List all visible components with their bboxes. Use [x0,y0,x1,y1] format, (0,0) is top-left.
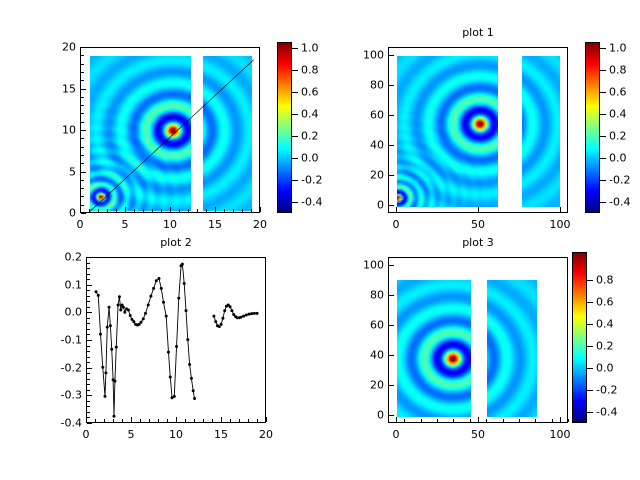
y-axis-minor-tick [87,290,90,291]
x-axis-tick-label: 15 [208,218,222,231]
colorbar-tick-label: 0.6 [609,86,627,99]
y-axis-tick [389,415,394,416]
y-axis-tick-label: 60 [348,319,384,332]
colorbar-tick [587,368,593,369]
y-axis-tick [389,55,394,56]
colorbar-tick-label: 0.8 [596,274,614,287]
plot3-patch-right [487,280,537,417]
y-axis-tick-label: 80 [348,79,384,92]
y-axis-tick-label: 0 [40,207,76,220]
colorbar-tick [600,136,606,137]
y-axis-tick [389,325,394,326]
plot1-colorbar-gradient [586,43,599,212]
y-axis-tick [389,175,394,176]
y-axis-minor-tick [81,113,84,114]
y-axis-tick [87,340,92,341]
y-axis-tick-label: 20 [348,379,384,392]
y-axis-minor-tick [81,205,84,206]
plot1-axes[interactable] [388,47,568,213]
colorbar-tick [600,70,606,71]
plot3-colorbar[interactable] [572,252,587,423]
colorbar-tick [292,48,298,49]
x-axis-tick-label: 100 [550,218,571,231]
y-axis-minor-tick [81,188,84,189]
colorbar-tick [292,92,298,93]
x-axis-minor-tick [388,419,389,422]
colorbar-tick [587,324,593,325]
x-axis-minor-tick [552,419,553,422]
colorbar-tick-label: 0.0 [609,152,627,165]
colorbar-tick-label: 0.8 [301,64,319,77]
x-axis-tick-label: 50 [471,428,485,441]
heatmap-canvas [522,56,560,207]
x-axis-minor-tick [233,209,234,212]
y-axis-tick [81,47,86,48]
y-axis-minor-tick [81,64,84,65]
y-axis-tick [81,130,86,131]
matplotlib-figure: 0510152005101520 1.00.80.60.40.20.0-0.2-… [0,0,640,480]
heatmap-canvas [90,56,191,211]
y-axis-minor-tick [87,318,90,319]
heatmap-canvas [487,280,537,417]
y-axis-minor-tick [81,105,84,106]
x-axis-minor-tick [568,419,569,422]
y-axis-tick-label: -0.4 [46,417,82,430]
colorbar-tick-label: 0.0 [596,362,614,375]
x-axis-tick [396,207,397,212]
y-axis-tick [389,355,394,356]
y-axis-minor-tick [87,373,90,374]
y-axis-tick [87,257,92,258]
colorbar-tick-label: -0.4 [596,406,617,419]
colorbar-tick [292,114,298,115]
x-axis-minor-tick [230,419,231,422]
colorbar-tick [292,202,298,203]
x-axis-minor-tick [134,209,135,212]
plot1-colorbar[interactable] [585,42,600,213]
y-axis-minor-tick [87,263,90,264]
colorbar-tick [600,48,606,49]
x-axis-tick-label: 0 [393,218,400,231]
y-axis-tick [389,205,394,206]
colorbar-tick [292,180,298,181]
colorbar-tick-label: 0.2 [301,130,319,143]
y-axis-tick [87,368,92,369]
y-axis-minor-tick [87,401,90,402]
x-axis-tick-label: 5 [128,428,135,441]
plot3-patch-left [397,280,471,417]
plot3-axes[interactable] [388,257,568,423]
y-axis-tick [81,172,86,173]
heatmap-canvas [397,280,471,417]
x-axis-tick [266,417,267,422]
y-axis-tick-label: 10 [40,124,76,137]
series-segment-smooth [212,304,258,329]
colorbar-tick-label: 0.6 [596,296,614,309]
plot0-axes[interactable] [80,47,260,213]
x-axis-minor-tick [89,209,90,212]
y-axis-tick-label: 20 [348,169,384,182]
x-axis-tick-label: 5 [122,218,129,231]
x-axis-minor-tick [116,209,117,212]
x-axis-minor-tick [239,419,240,422]
y-axis-minor-tick [87,268,90,269]
x-axis-minor-tick [113,419,114,422]
y-axis-tick-label: 100 [348,259,384,272]
y-axis-minor-tick [87,406,90,407]
colorbar-tick [292,136,298,137]
x-axis-tick [221,417,222,422]
colorbar-tick-label: 0.2 [596,340,614,353]
y-axis-minor-tick [87,384,90,385]
plot3-colorbar-gradient [573,253,586,422]
x-axis-minor-tick [152,209,153,212]
x-axis-minor-tick [535,419,536,422]
x-axis-tick-label: 20 [253,218,267,231]
x-axis-minor-tick [140,419,141,422]
x-axis-tick [176,417,177,422]
y-axis-minor-tick [87,334,90,335]
y-axis-tick-label: 15 [40,83,76,96]
y-axis-minor-tick [87,329,90,330]
plot1-patch-right [522,56,560,207]
x-axis-minor-tick [179,209,180,212]
x-axis-tick-label: 100 [550,428,571,441]
x-axis-minor-tick [185,419,186,422]
x-axis-minor-tick [437,419,438,422]
y-axis-minor-tick [87,346,90,347]
colorbar-tick-label: 0.4 [301,108,319,121]
colorbar-tick [292,70,298,71]
colorbar-tick [600,202,606,203]
y-axis-minor-tick [81,97,84,98]
y-axis-tick-label: 40 [348,139,384,152]
x-axis-tick [125,207,126,212]
x-axis-tick-label: 10 [169,428,183,441]
x-axis-tick [131,417,132,422]
x-axis-minor-tick [257,419,258,422]
plot2-lines [87,258,266,423]
y-axis-minor-tick [81,122,84,123]
x-axis-minor-tick [242,209,243,212]
plot0-colorbar[interactable] [277,42,292,213]
x-axis-minor-tick [197,209,198,212]
y-axis-tick-label: 0 [348,199,384,212]
x-axis-minor-tick [167,419,168,422]
x-axis-minor-tick [453,419,454,422]
plot2-title: plot 2 [86,236,266,249]
y-axis-tick [389,295,394,296]
y-axis-minor-tick [81,163,84,164]
x-axis-minor-tick [95,419,96,422]
y-axis-tick-label: 5 [40,166,76,179]
x-axis-minor-tick [206,209,207,212]
x-axis-minor-tick [98,209,99,212]
x-axis-minor-tick [248,419,249,422]
y-axis-tick [389,115,394,116]
y-axis-tick [81,213,86,214]
colorbar-tick [600,158,606,159]
plot1-title: plot 1 [388,26,568,39]
colorbar-tick [292,158,298,159]
y-axis-tick [389,265,394,266]
y-axis-tick [389,145,394,146]
y-axis-minor-tick [87,390,90,391]
colorbar-tick [600,92,606,93]
x-axis-tick-label: 10 [163,218,177,231]
y-axis-minor-tick [81,147,84,148]
colorbar-tick [587,280,593,281]
y-axis-tick-label: -0.3 [46,389,82,402]
x-axis-tick-label: 50 [471,218,485,231]
x-axis-tick [215,207,216,212]
plot0-colorbar-gradient [278,43,291,212]
x-axis-minor-tick [158,419,159,422]
y-axis-tick [81,89,86,90]
x-axis-minor-tick [224,209,225,212]
y-axis-minor-tick [87,362,90,363]
x-axis-tick [396,417,397,422]
x-axis-minor-tick [486,419,487,422]
colorbar-tick [587,302,593,303]
x-axis-tick-label: 20 [259,428,273,441]
colorbar-tick-label: -0.4 [609,196,630,209]
y-axis-minor-tick [81,155,84,156]
colorbar-tick-label: 0.8 [609,64,627,77]
y-axis-tick-label: 60 [348,109,384,122]
heatmap-canvas [397,56,498,207]
colorbar-tick [587,346,593,347]
plot1-patch-left [397,56,498,207]
colorbar-tick-label: -0.2 [609,174,630,187]
y-axis-minor-tick [87,307,90,308]
y-axis-tick [389,85,394,86]
y-axis-tick-label: 0.0 [46,306,82,319]
plot2-axes[interactable] [86,257,266,423]
x-axis-tick [560,207,561,212]
x-axis-tick-label: 15 [214,428,228,441]
series-segment-oscillatory [95,263,197,418]
x-axis-minor-tick [404,419,405,422]
x-axis-minor-tick [107,209,108,212]
x-axis-tick [560,417,561,422]
plot0-patch-right [203,56,252,211]
colorbar-tick-label: 1.0 [609,42,627,55]
heatmap-canvas [203,56,252,211]
y-axis-minor-tick [87,274,90,275]
y-axis-minor-tick [81,80,84,81]
y-axis-minor-tick [81,180,84,181]
y-axis-minor-tick [87,351,90,352]
x-axis-tick [80,207,81,212]
plot3-title: plot 3 [388,236,568,249]
colorbar-tick [587,412,593,413]
colorbar-tick-label: 0.0 [301,152,319,165]
x-axis-minor-tick [194,419,195,422]
y-axis-minor-tick [87,379,90,380]
y-axis-minor-tick [81,196,84,197]
y-axis-minor-tick [87,412,90,413]
colorbar-tick [600,114,606,115]
colorbar-tick [600,180,606,181]
y-axis-tick [87,423,92,424]
y-axis-minor-tick [81,55,84,56]
x-axis-tick-label: 0 [77,218,84,231]
colorbar-tick [587,390,593,391]
y-axis-minor-tick [81,72,84,73]
y-axis-tick [389,385,394,386]
x-axis-minor-tick [519,419,520,422]
y-axis-tick-label: 0 [348,409,384,422]
x-axis-tick [478,417,479,422]
x-axis-minor-tick [470,419,471,422]
y-axis-minor-tick [81,138,84,139]
y-axis-tick-label: 0.1 [46,279,82,292]
colorbar-tick-label: 0.2 [609,130,627,143]
x-axis-minor-tick [212,419,213,422]
x-axis-minor-tick [149,419,150,422]
x-axis-tick [170,207,171,212]
y-axis-minor-tick [87,357,90,358]
y-axis-tick-label: 0.2 [46,251,82,264]
y-axis-tick-label: 100 [348,49,384,62]
y-axis-tick [87,312,92,313]
y-axis-minor-tick [87,279,90,280]
colorbar-tick-label: 0.4 [609,108,627,121]
y-axis-tick-label: 20 [40,41,76,54]
plot0-patch-left [90,56,191,211]
y-axis-tick [87,285,92,286]
x-axis-minor-tick [104,419,105,422]
y-axis-minor-tick [87,417,90,418]
colorbar-tick-label: -0.2 [301,174,322,187]
x-axis-minor-tick [161,209,162,212]
colorbar-tick-label: -0.4 [301,196,322,209]
y-axis-minor-tick [87,301,90,302]
x-axis-minor-tick [421,419,422,422]
x-axis-minor-tick [203,419,204,422]
y-axis-tick-label: -0.2 [46,362,82,375]
x-axis-minor-tick [251,209,252,212]
colorbar-tick-label: 1.0 [301,42,319,55]
x-axis-tick [260,207,261,212]
y-axis-tick-label: 40 [348,349,384,362]
colorbar-tick-label: 0.6 [301,86,319,99]
x-axis-minor-tick [188,209,189,212]
y-axis-tick-label: 80 [348,289,384,302]
y-axis-minor-tick [87,323,90,324]
y-axis-tick [87,395,92,396]
colorbar-tick-label: -0.2 [596,384,617,397]
y-axis-tick-label: -0.1 [46,334,82,347]
x-axis-tick [478,207,479,212]
colorbar-tick-label: 0.4 [596,318,614,331]
x-axis-minor-tick [122,419,123,422]
x-axis-tick-label: 0 [83,428,90,441]
x-axis-tick-label: 0 [393,428,400,441]
x-axis-minor-tick [503,419,504,422]
y-axis-minor-tick [87,296,90,297]
x-axis-minor-tick [143,209,144,212]
